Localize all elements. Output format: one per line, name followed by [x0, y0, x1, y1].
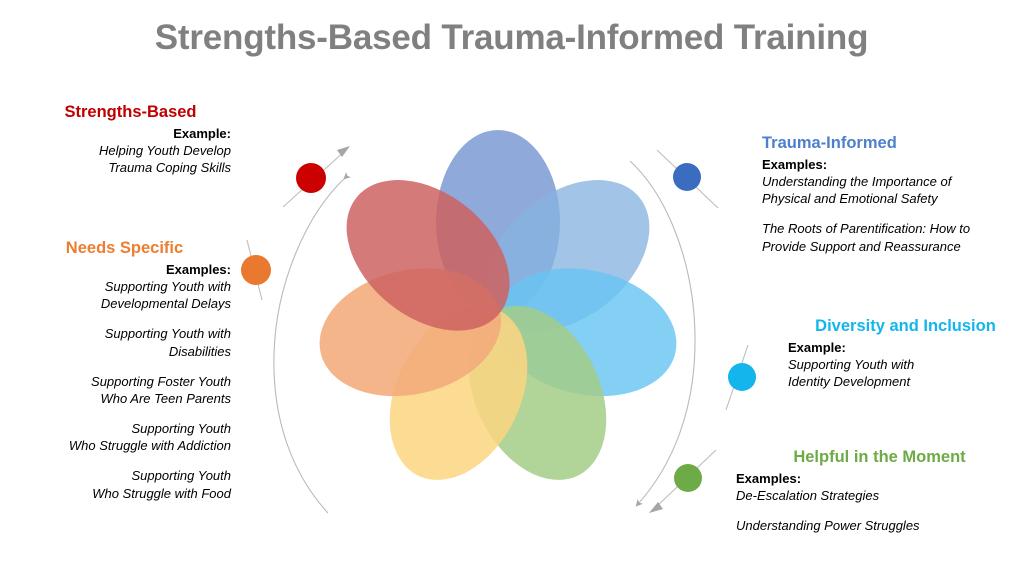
heading-strengths-based: Strengths-Based [30, 103, 231, 122]
example-line: Provide Support and Reassurance [762, 238, 1020, 255]
example-line: De-Escalation Strategies [736, 487, 1023, 504]
spacer [18, 454, 231, 467]
example-line: Developmental Delays [18, 295, 231, 312]
example-line: Understanding Power Struggles [736, 517, 1023, 534]
example-line: The Roots of Parentification: How to [762, 220, 1020, 237]
section-needs-specific: Needs Specific Examples: Supporting Yout… [18, 239, 231, 502]
example-line: Who Are Teen Parents [18, 390, 231, 407]
example-line: Supporting Youth with [18, 325, 231, 342]
example-line: Supporting Youth with [788, 356, 1023, 373]
example-line: Understanding the Importance of [762, 173, 1020, 190]
examples-label-needs: Examples: [18, 261, 231, 278]
example-line: Who Struggle with Food [18, 485, 231, 502]
examples-label-diversity: Example: [788, 339, 1023, 356]
examples-label-trauma: Examples: [762, 156, 1020, 173]
example-line: Trauma Coping Skills [30, 159, 231, 176]
example-line: Identity Development [788, 373, 1023, 390]
spacer [18, 407, 231, 420]
petal-group [307, 130, 690, 503]
examples-label-helpful: Examples: [736, 470, 1023, 487]
section-strengths-based: Strengths-Based Example: Helping Youth D… [30, 103, 231, 176]
spacer [18, 312, 231, 325]
example-line: Who Struggle with Addiction [18, 437, 231, 454]
example-line: Supporting Youth with [18, 278, 231, 295]
heading-diversity-and-inclusion: Diversity and Inclusion [788, 317, 1023, 336]
page-title: Strengths-Based Trauma-Informed Training [0, 18, 1023, 58]
examples-label-strengths: Example: [30, 125, 231, 142]
flower-diagram [198, 104, 758, 544]
example-line: Physical and Emotional Safety [762, 190, 1020, 207]
spacer [18, 360, 231, 373]
example-line: Supporting Youth [18, 467, 231, 484]
spacer [736, 504, 1023, 517]
heading-trauma-informed: Trauma-Informed [762, 134, 1020, 153]
heading-helpful-in-the-moment: Helpful in the Moment [736, 448, 1023, 467]
spacer [762, 207, 1020, 220]
section-trauma-informed: Trauma-Informed Examples: Understanding … [762, 134, 1020, 255]
section-diversity-and-inclusion: Diversity and Inclusion Example: Support… [788, 317, 1023, 390]
section-helpful-in-the-moment: Helpful in the Moment Examples: De-Escal… [736, 448, 1023, 534]
example-line: Supporting Youth [18, 420, 231, 437]
heading-needs-specific: Needs Specific [18, 239, 231, 258]
example-line: Helping Youth Develop [30, 142, 231, 159]
example-line: Supporting Foster Youth [18, 373, 231, 390]
example-line: Disabilities [18, 343, 231, 360]
